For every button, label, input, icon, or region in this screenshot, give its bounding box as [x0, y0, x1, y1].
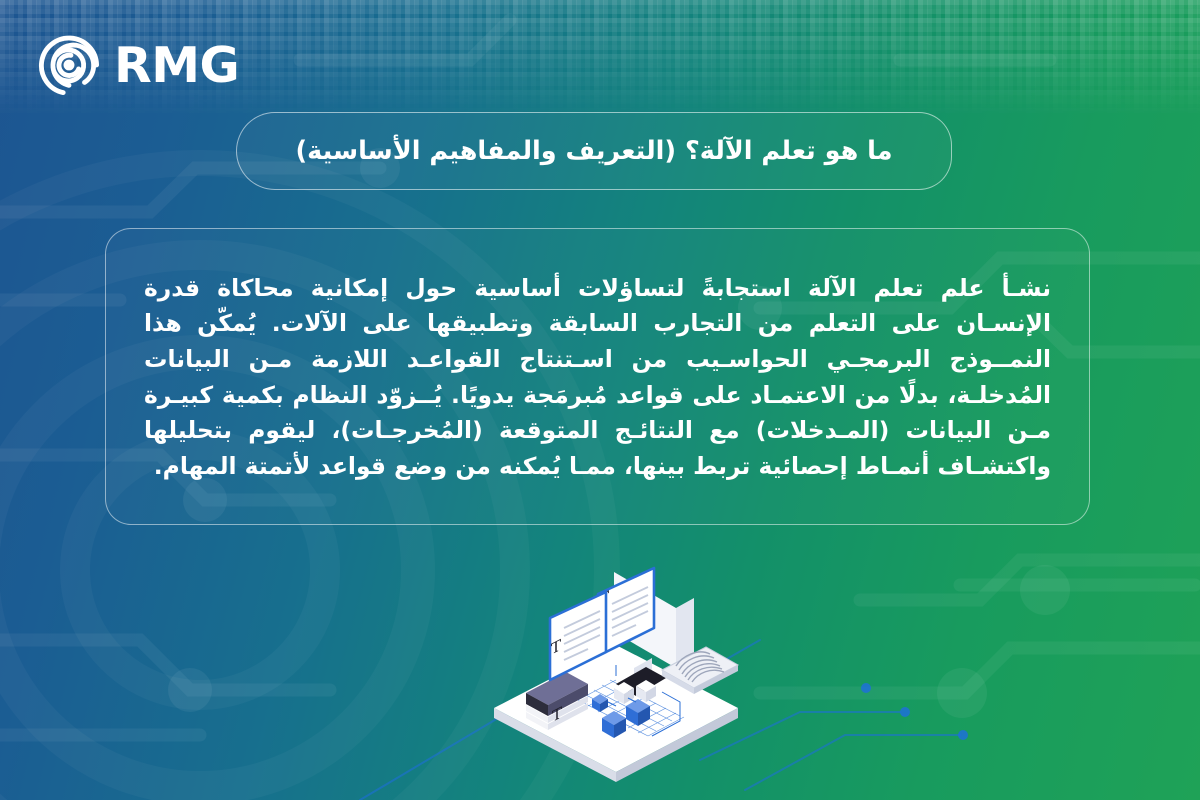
brand-logo[interactable]: RMG — [38, 34, 239, 96]
brand-name: RMG — [114, 41, 239, 90]
page-title: ما هو تعلم الآلة؟ (التعريف والمفاهيم الأ… — [295, 136, 892, 166]
spiral-swirl-icon — [38, 34, 100, 96]
isometric-machine-learning-scene: T T T — [466, 560, 766, 800]
body-paragraph: نشـأ علم تعلم الآلة استجابةً لتساؤلات أس… — [144, 271, 1051, 484]
title-pill: ما هو تعلم الآلة؟ (التعريف والمفاهيم الأ… — [236, 112, 952, 190]
isometric-illustration: T T T — [466, 560, 766, 800]
poster-canvas: RMG ما هو تعلم الآلة؟ (التعريف والمفاهيم… — [0, 0, 1200, 800]
body-card: نشـأ علم تعلم الآلة استجابةً لتساؤلات أس… — [105, 228, 1090, 525]
